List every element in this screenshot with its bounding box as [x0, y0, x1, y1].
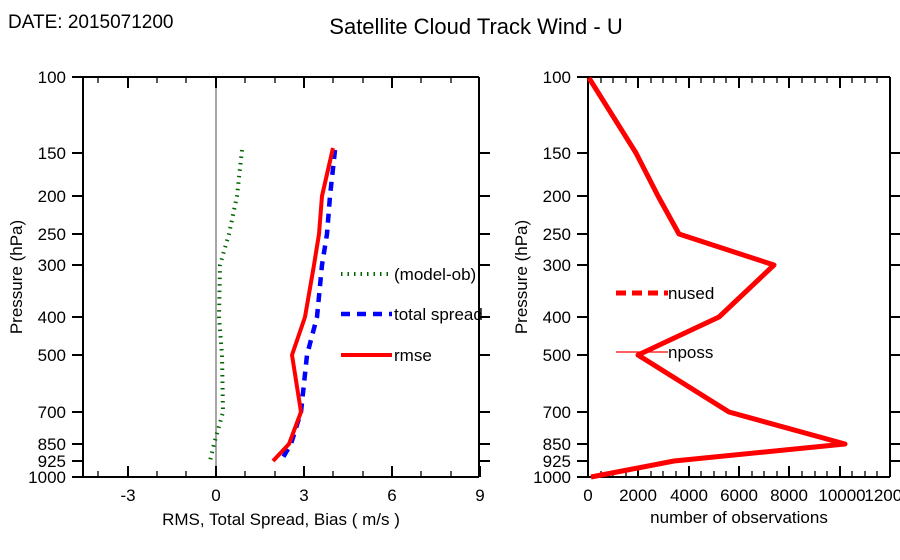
legend-label-total-spread: total spread: [394, 305, 483, 324]
right-xtick-label: 4000: [670, 486, 708, 505]
figure-title: Satellite Cloud Track Wind - U: [329, 14, 622, 39]
right-ytick-label: 700: [543, 403, 571, 422]
left-ytick-label: 1000: [28, 468, 66, 487]
right-xtick-label: 8000: [770, 486, 808, 505]
left-ytick-label: 500: [38, 346, 66, 365]
left-yaxis-title: Pressure (hPa): [7, 220, 26, 334]
right-xtick-labels: 0 2000 4000 6000 8000 10000 12000: [583, 486, 900, 505]
right-ytick-label: 300: [543, 256, 571, 275]
left-ytick-label: 700: [38, 403, 66, 422]
left-xaxis-title: RMS, Total Spread, Bias ( m/s ): [162, 510, 400, 529]
right-ytick-label: 150: [543, 144, 571, 163]
date-label: DATE: 2015071200: [8, 12, 174, 33]
left-xtick-label: -3: [120, 486, 135, 505]
right-ytick-label: 200: [543, 187, 571, 206]
legend-label-rmse: rmse: [394, 346, 432, 365]
legend-label-nposs: nposs: [668, 343, 713, 362]
right-ytick-label: 500: [543, 346, 571, 365]
right-ytick-label: 400: [543, 308, 571, 327]
figure-canvas: DATE: 2015071200 Satellite Cloud Track W…: [0, 0, 900, 560]
right-yaxis-title: Pressure (hPa): [512, 220, 531, 334]
right-xtick-label: 6000: [720, 486, 758, 505]
legend-label-nused: nused: [668, 284, 714, 303]
left-xtick-label: 3: [299, 486, 308, 505]
left-ytick-label: 200: [38, 187, 66, 206]
left-ytick-label: 300: [38, 256, 66, 275]
right-xtick-label: 12000: [864, 486, 900, 505]
right-xtick-label: 0: [583, 486, 592, 505]
right-ytick-label: 1000: [533, 468, 571, 487]
right-xtick-label: 10000: [818, 486, 865, 505]
left-ytick-label: 250: [38, 225, 66, 244]
right-xaxis-title: number of observations: [650, 508, 828, 527]
left-ytick-label: 400: [38, 308, 66, 327]
left-xtick-label: 6: [387, 486, 396, 505]
left-xtick-label: 0: [211, 486, 220, 505]
left-xtick-label: 9: [475, 486, 484, 505]
right-xtick-label: 2000: [619, 486, 657, 505]
right-ytick-label: 250: [543, 225, 571, 244]
left-ytick-label: 150: [38, 144, 66, 163]
legend-label-model-ob: (model-ob): [394, 265, 476, 284]
left-ytick-label: 100: [38, 68, 66, 87]
right-ytick-label: 100: [543, 68, 571, 87]
